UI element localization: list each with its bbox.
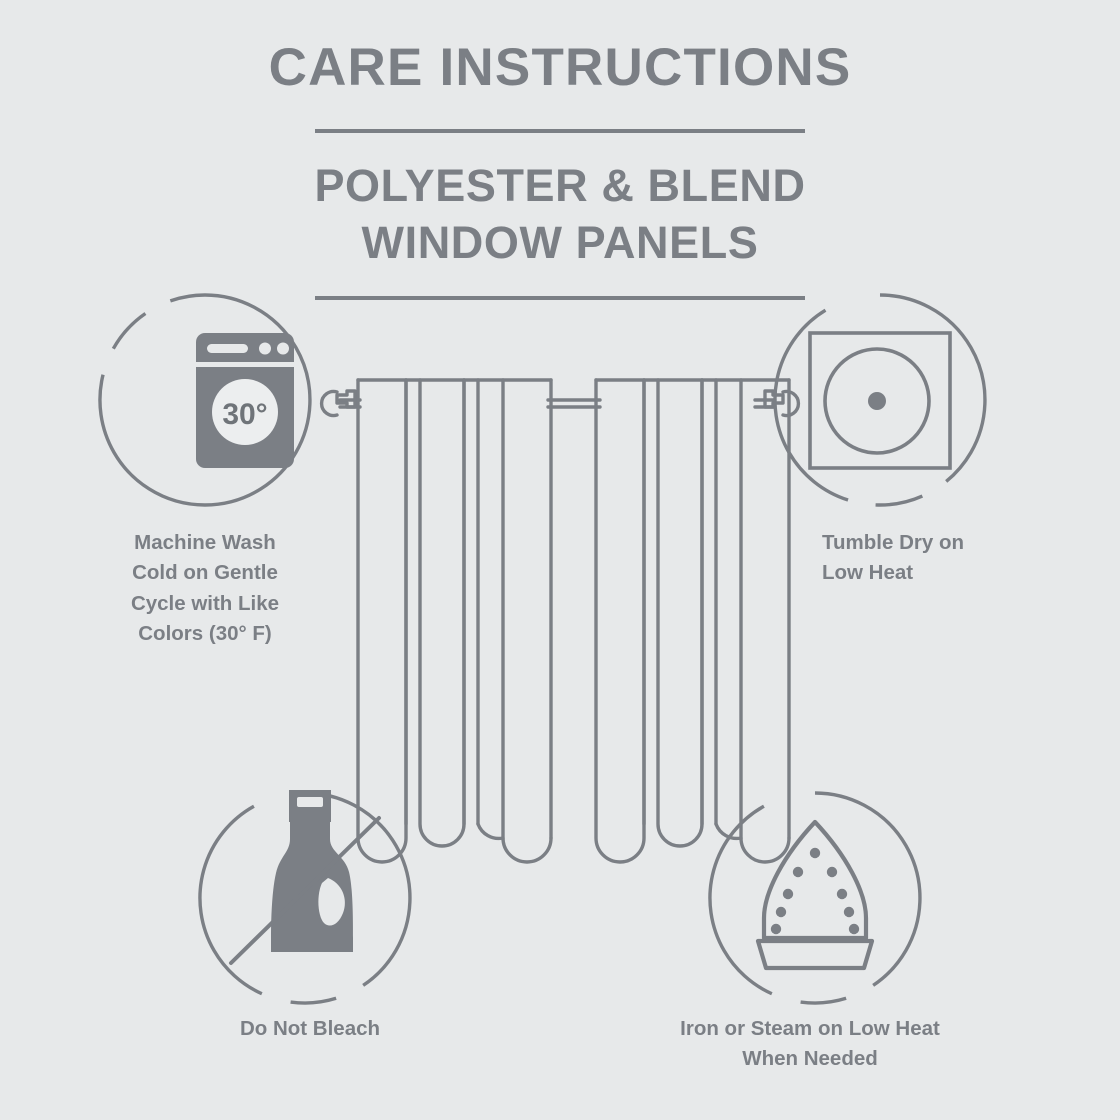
iron-steam-icon	[758, 822, 872, 968]
page-title: CARE INSTRUCTIONS	[0, 0, 1120, 96]
header: CARE INSTRUCTIONS POLYESTER & BLENDWINDO…	[0, 0, 1120, 300]
curtain-panel-left	[358, 380, 551, 862]
subtitle-line-2: WINDOW PANELS	[362, 217, 759, 268]
caption-iron: Iron or Steam on Low Heat When Needed	[600, 1014, 1020, 1075]
caption-do-not-bleach: Do Not Bleach	[170, 1014, 450, 1044]
subtitle-line-1: POLYESTER & BLEND	[314, 160, 805, 211]
rod-finial-right	[765, 391, 798, 416]
caption-machine-wash: Machine Wash Cold on Gentle Cycle with L…	[68, 528, 342, 649]
washing-machine-icon: 30°	[196, 333, 294, 468]
symbol-tumble-dry[interactable]	[775, 295, 985, 505]
tumble-dry-low-icon	[810, 333, 950, 468]
symbol-do-not-bleach[interactable]	[200, 790, 410, 1003]
symbol-machine-wash[interactable]: 30°	[100, 295, 310, 505]
care-instructions-infographic: CARE INSTRUCTIONS POLYESTER & BLENDWINDO…	[0, 0, 1120, 1120]
curtain-panel-right	[596, 380, 789, 862]
symbol-iron[interactable]	[710, 793, 920, 1003]
rod-finial-left	[322, 391, 355, 415]
curtain-illustration	[322, 380, 799, 862]
wash-temperature-label: 30°	[222, 398, 267, 431]
page-subtitle: POLYESTER & BLENDWINDOW PANELS	[0, 133, 1120, 272]
no-bleach-icon	[231, 790, 379, 963]
divider-bottom	[315, 296, 805, 300]
caption-tumble-dry: Tumble Dry on Low Heat	[822, 528, 1092, 589]
